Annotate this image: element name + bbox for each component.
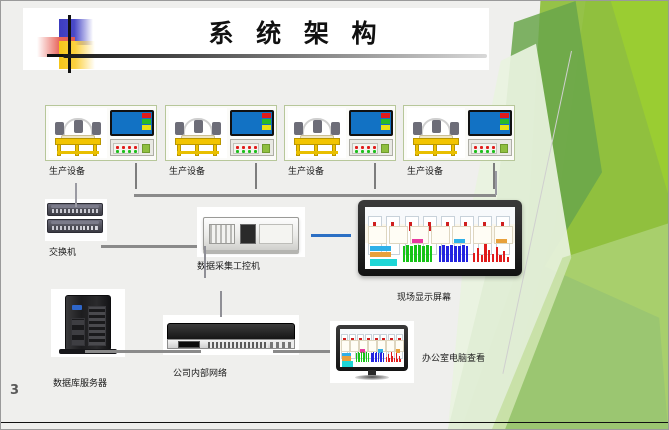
production-equipment-label-4: 生产设备 bbox=[407, 166, 449, 178]
production-equipment-2[interactable] bbox=[165, 105, 277, 161]
pc-front-panel bbox=[259, 224, 293, 244]
machine-leg-1 bbox=[296, 144, 300, 156]
red-bar bbox=[496, 247, 498, 262]
red-bar bbox=[400, 359, 401, 362]
panel-led bbox=[367, 150, 370, 153]
rack-switch-display bbox=[178, 341, 200, 348]
panel-led bbox=[128, 146, 131, 149]
status-tag bbox=[496, 239, 507, 243]
panel-led bbox=[122, 150, 125, 153]
server-to-network-line bbox=[85, 350, 201, 353]
green-bar bbox=[418, 245, 421, 261]
title-underline bbox=[63, 54, 487, 58]
status-cell bbox=[350, 340, 359, 352]
blue-bar bbox=[439, 246, 442, 262]
blue-bar bbox=[442, 245, 445, 261]
machine-head-3 bbox=[212, 122, 221, 135]
panel-led-group bbox=[113, 143, 139, 154]
machine-icon bbox=[49, 108, 107, 158]
equipment-drop-line-3 bbox=[374, 163, 376, 189]
rack-switch-ports bbox=[208, 342, 268, 348]
server-status-led bbox=[72, 305, 82, 310]
switch-uplink-ports bbox=[83, 226, 97, 230]
control-panel-icon bbox=[110, 139, 154, 156]
status-cell bbox=[341, 340, 350, 352]
machine-icon bbox=[169, 108, 227, 158]
production-equipment-3[interactable] bbox=[284, 105, 396, 161]
machine-icon bbox=[407, 108, 465, 158]
panel-knob bbox=[500, 144, 508, 153]
panel-led bbox=[492, 146, 495, 149]
panel-led bbox=[361, 150, 364, 153]
machine-leg-1 bbox=[415, 144, 419, 156]
red-bar bbox=[481, 255, 483, 262]
pc-drive-bay bbox=[240, 224, 256, 244]
machine-icon bbox=[288, 108, 346, 158]
machine-leg-2 bbox=[93, 144, 97, 156]
machine-leg-2 bbox=[332, 144, 336, 156]
production-equipment-label-3: 生产设备 bbox=[288, 166, 330, 178]
production-equipment-4[interactable] bbox=[403, 105, 515, 161]
green-bar bbox=[410, 246, 413, 262]
office-computer-label: 办公室电脑查看 bbox=[422, 353, 488, 365]
hmi-indicator-yellow bbox=[142, 125, 151, 130]
machine-leg-2 bbox=[451, 144, 455, 156]
display-bus-connector bbox=[495, 171, 497, 195]
machine-leg-2 bbox=[213, 144, 217, 156]
server-drive-bays-left bbox=[71, 318, 85, 346]
panel-led bbox=[134, 146, 137, 149]
panel-knob bbox=[142, 144, 150, 153]
machine-head-1 bbox=[175, 122, 184, 135]
green-bar bbox=[414, 245, 417, 262]
chart-legend-blue bbox=[370, 246, 391, 251]
status-tag bbox=[454, 239, 465, 243]
office-monitor-bezel bbox=[336, 325, 408, 371]
red-bar bbox=[499, 255, 501, 261]
industrial-pc[interactable] bbox=[197, 207, 305, 257]
status-cell bbox=[389, 226, 408, 244]
production-equipment-label-1: 生产设备 bbox=[49, 166, 91, 178]
panel-led bbox=[254, 150, 257, 153]
chart-legend-cyan bbox=[342, 361, 354, 367]
blue-bar bbox=[458, 246, 461, 262]
hmi-indicator-green bbox=[262, 119, 271, 124]
blue-bar bbox=[450, 245, 453, 262]
machine-head-2 bbox=[194, 120, 203, 133]
rack-switch-sfp-ports bbox=[270, 342, 294, 348]
hmi-indicator-red bbox=[381, 113, 390, 118]
large-display[interactable] bbox=[358, 200, 522, 276]
green-bar bbox=[406, 245, 409, 262]
red-bar bbox=[507, 257, 509, 262]
panel-led bbox=[480, 150, 483, 153]
panel-knob bbox=[262, 144, 270, 153]
status-cell bbox=[473, 226, 492, 244]
panel-led bbox=[355, 146, 358, 149]
panel-led bbox=[373, 146, 376, 149]
hmi-screen-icon bbox=[349, 110, 393, 136]
office-computer[interactable] bbox=[330, 321, 414, 383]
machine-head-2 bbox=[74, 120, 83, 133]
bottom-rule bbox=[1, 422, 668, 423]
hmi-indicator-red bbox=[500, 113, 509, 118]
chart-legend-cyan bbox=[370, 259, 397, 266]
industrial-pc-chassis bbox=[203, 217, 299, 251]
blue-bar bbox=[462, 245, 465, 262]
pc-base bbox=[203, 250, 299, 254]
machine-head-1 bbox=[55, 122, 64, 135]
server-chassis bbox=[65, 295, 111, 351]
hmi-screen-icon bbox=[110, 110, 154, 136]
panel-led-group bbox=[352, 143, 378, 154]
machine-leg-3 bbox=[195, 144, 199, 156]
panel-led bbox=[242, 150, 245, 153]
machine-head-1 bbox=[294, 122, 303, 135]
panel-led bbox=[236, 150, 239, 153]
hmi-indicator-yellow bbox=[500, 125, 509, 130]
switch-uplink-connector bbox=[75, 183, 77, 207]
network-to-pc-connector bbox=[220, 291, 222, 317]
production-equipment-label-2: 生产设备 bbox=[169, 166, 211, 178]
green-bar bbox=[426, 245, 429, 262]
status-cell bbox=[386, 340, 395, 352]
blue-bar bbox=[454, 246, 457, 262]
panel-led bbox=[236, 146, 239, 149]
logo-cross-vertical bbox=[68, 15, 71, 73]
panel-knob bbox=[381, 144, 389, 153]
switch-unit-bottom bbox=[47, 219, 103, 233]
pc-to-display-line[interactable] bbox=[311, 234, 351, 237]
control-panel-icon bbox=[468, 139, 512, 156]
panel-led bbox=[367, 146, 370, 149]
equipment-drop-line-1 bbox=[135, 163, 137, 189]
red-bar bbox=[473, 253, 475, 262]
status-cell bbox=[431, 226, 450, 244]
monitor-base bbox=[355, 375, 389, 380]
hmi-display bbox=[470, 112, 510, 134]
panel-led bbox=[373, 150, 376, 153]
panel-led bbox=[122, 146, 125, 149]
panel-led bbox=[355, 150, 358, 153]
machine-leg-3 bbox=[75, 144, 79, 156]
machine-leg-3 bbox=[433, 144, 437, 156]
hmi-display bbox=[351, 112, 391, 134]
slide-canvas: 系 统 架 构 生产设备生产设备生产设备生产设备 交换机 数据采集工控机 bbox=[0, 0, 669, 430]
status-tag bbox=[412, 239, 423, 243]
hmi-screen-icon bbox=[468, 110, 512, 136]
hmi-indicator-red bbox=[262, 113, 271, 118]
panel-led bbox=[248, 150, 251, 153]
switch-ports-top bbox=[52, 209, 98, 213]
switch-label: 交换机 bbox=[49, 247, 93, 259]
blue-bar bbox=[466, 246, 469, 262]
status-tag bbox=[396, 349, 400, 353]
machine-leg-3 bbox=[314, 144, 318, 156]
machine-rail bbox=[415, 151, 457, 154]
machine-leg-1 bbox=[177, 144, 181, 156]
green-bar bbox=[368, 353, 369, 363]
hmi-indicator-green bbox=[142, 119, 151, 124]
panel-led bbox=[480, 146, 483, 149]
switch-to-pc-line bbox=[101, 245, 205, 248]
pc-vent-grille bbox=[209, 224, 235, 244]
machine-leg-1 bbox=[57, 144, 61, 156]
green-bar bbox=[403, 246, 406, 262]
page-number: 3 bbox=[10, 383, 19, 398]
panel-led bbox=[242, 146, 245, 149]
hmi-indicator-green bbox=[381, 119, 390, 124]
red-bar bbox=[484, 244, 486, 261]
machine-head-3 bbox=[331, 122, 340, 135]
blue-bar bbox=[383, 353, 384, 363]
panel-led bbox=[134, 150, 137, 153]
panel-led bbox=[474, 146, 477, 149]
red-bar bbox=[492, 254, 494, 262]
hmi-display bbox=[112, 112, 152, 134]
control-panel-icon bbox=[230, 139, 274, 156]
machine-rail bbox=[57, 151, 99, 154]
pc-label-connector bbox=[204, 246, 206, 278]
hmi-display bbox=[232, 112, 272, 134]
chart-legend-orange bbox=[370, 252, 391, 257]
machine-head-1 bbox=[413, 122, 422, 135]
company-network-switch[interactable] bbox=[163, 315, 299, 355]
red-bar bbox=[488, 250, 490, 261]
panel-led bbox=[248, 146, 251, 149]
panel-led bbox=[474, 150, 477, 153]
database-server-label: 数据库服务器 bbox=[53, 378, 113, 390]
logo-mark bbox=[37, 19, 99, 71]
display-bezel bbox=[358, 200, 522, 276]
switch-top-strip-2 bbox=[51, 221, 99, 224]
machine-head-2 bbox=[432, 120, 441, 133]
industrial-pc-label: 数据采集工控机 bbox=[197, 261, 277, 273]
panel-led bbox=[361, 146, 364, 149]
hmi-indicator-yellow bbox=[381, 125, 390, 130]
green-bar bbox=[430, 246, 433, 262]
panel-led bbox=[116, 150, 119, 153]
panel-led bbox=[128, 150, 131, 153]
panel-led-group bbox=[233, 143, 259, 154]
blue-bar bbox=[446, 246, 449, 262]
hmi-indicator-green bbox=[500, 119, 509, 124]
hmi-indicator-red bbox=[142, 113, 151, 118]
machine-head-2 bbox=[313, 120, 322, 133]
panel-led bbox=[116, 146, 119, 149]
equipment-drop-line-2 bbox=[255, 163, 257, 189]
display-screen bbox=[365, 207, 515, 269]
page-title: 系 统 架 构 bbox=[121, 19, 471, 49]
production-equipment-1[interactable] bbox=[45, 105, 157, 161]
equipment-bus-line bbox=[134, 194, 496, 197]
network-to-office-line bbox=[273, 350, 335, 353]
panel-led-group bbox=[471, 143, 497, 154]
red-bar bbox=[477, 248, 479, 262]
machine-rail bbox=[296, 151, 338, 154]
green-bar bbox=[422, 246, 425, 262]
status-cell bbox=[368, 340, 377, 352]
panel-led bbox=[492, 150, 495, 153]
office-monitor-screen bbox=[340, 329, 404, 367]
machine-head-3 bbox=[92, 122, 101, 135]
rack-switch-front bbox=[167, 339, 295, 349]
control-panel-icon bbox=[349, 139, 393, 156]
hmi-screen-icon bbox=[230, 110, 274, 136]
panel-led bbox=[486, 146, 489, 149]
panel-led bbox=[254, 146, 257, 149]
red-bar bbox=[503, 251, 505, 261]
panel-led bbox=[486, 150, 489, 153]
company-network-label: 公司内部网络 bbox=[173, 368, 243, 380]
large-display-label: 现场显示屏幕 bbox=[397, 292, 461, 304]
database-server[interactable] bbox=[51, 289, 125, 357]
machine-head-3 bbox=[450, 122, 459, 135]
status-cell bbox=[368, 226, 387, 244]
machine-rail bbox=[177, 151, 219, 154]
server-drive-bays bbox=[88, 306, 106, 346]
hmi-indicator-yellow bbox=[262, 125, 271, 130]
